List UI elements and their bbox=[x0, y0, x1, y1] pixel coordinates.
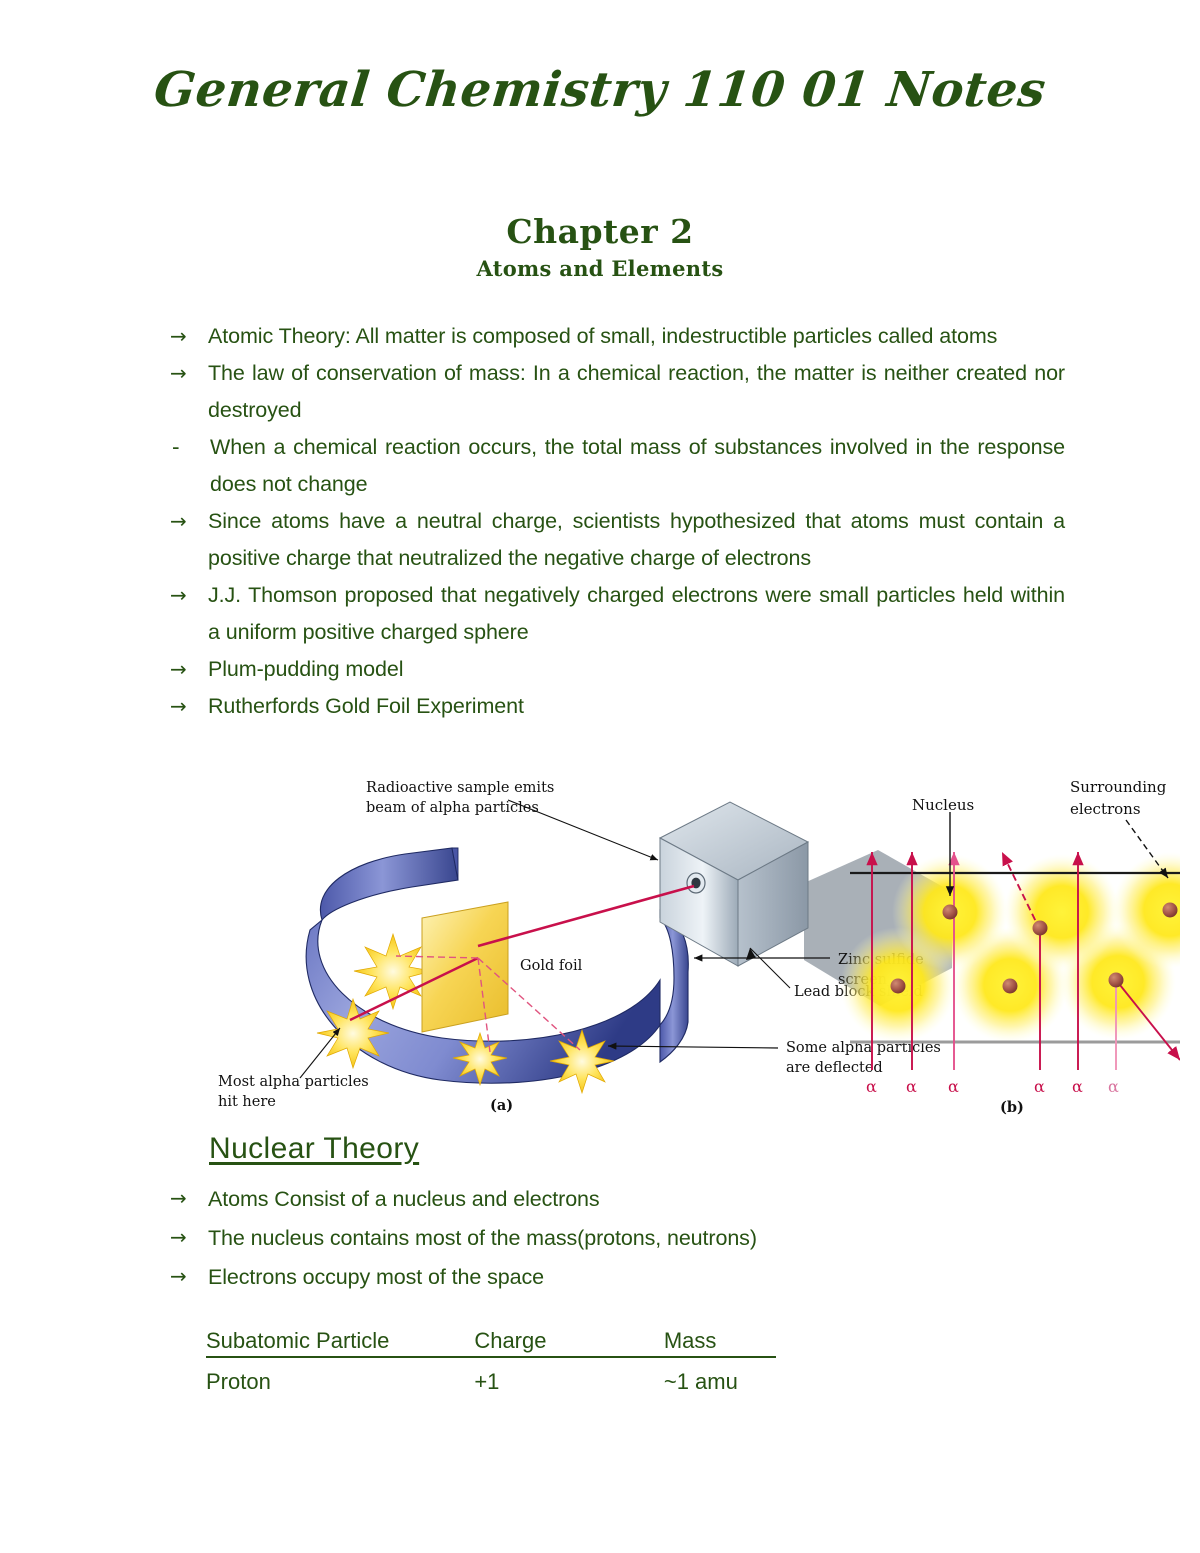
label-most-line2: hit here bbox=[218, 1094, 276, 1110]
column-header-particle: Subatomic Particle bbox=[206, 1328, 474, 1357]
list-item-text: Atoms Consist of a nucleus and electrons bbox=[208, 1180, 1065, 1219]
panel-a-diagram: Radioactive sample emits beam of alpha p… bbox=[218, 780, 952, 1114]
panel-b-diagram: α α α α α α Nucleus Surrounding electron… bbox=[840, 778, 1180, 1115]
arrow-bullet-icon: → bbox=[170, 503, 208, 540]
list-item: → Atomic Theory: All matter is composed … bbox=[170, 318, 1065, 355]
arrow-bullet-icon: → bbox=[170, 1219, 208, 1256]
table-row: Proton +1 ~1 amu bbox=[206, 1357, 776, 1395]
list-item-text: The nucleus contains most of the mass(pr… bbox=[208, 1219, 1065, 1258]
table-header-row: Subatomic Particle Charge Mass bbox=[206, 1328, 776, 1357]
nucleus bbox=[891, 979, 906, 994]
list-item: → The nucleus contains most of the mass(… bbox=[170, 1219, 1065, 1258]
arrow-bullet-icon: → bbox=[170, 318, 208, 355]
panel-b-caption: (b) bbox=[1000, 1099, 1024, 1115]
alpha-symbol: α bbox=[866, 1077, 877, 1096]
label-electrons-line1: Surrounding bbox=[1070, 778, 1167, 796]
alpha-symbol: α bbox=[948, 1077, 959, 1096]
list-item-text: Atomic Theory: All matter is composed of… bbox=[208, 318, 1065, 355]
arrow-bullet-icon: → bbox=[170, 355, 208, 392]
list-item: → Atoms Consist of a nucleus and electro… bbox=[170, 1180, 1065, 1219]
arrow-bullet-icon: → bbox=[170, 1180, 208, 1217]
list-item: → Rutherfords Gold Foil Experiment bbox=[170, 688, 1065, 725]
electron-cloud bbox=[1004, 854, 1120, 970]
list-item-text: Electrons occupy most of the space bbox=[208, 1258, 1065, 1297]
arrow-bullet-icon: → bbox=[170, 688, 208, 725]
cell-charge: +1 bbox=[474, 1357, 664, 1395]
arrow-bullet-icon: → bbox=[170, 577, 208, 614]
page-title: General Chemistry 110 01 Notes bbox=[0, 62, 1200, 118]
alpha-symbol: α bbox=[906, 1077, 917, 1096]
nuclear-theory-bullet-list: → Atoms Consist of a nucleus and electro… bbox=[170, 1180, 1065, 1297]
list-item: → Electrons occupy most of the space bbox=[170, 1258, 1065, 1297]
alpha-symbol: α bbox=[1072, 1077, 1083, 1096]
label-most-line1: Most alpha particles bbox=[218, 1074, 369, 1090]
list-item: - When a chemical reaction occurs, the t… bbox=[170, 429, 1065, 503]
alpha-symbol: α bbox=[1108, 1077, 1119, 1096]
gold-foil bbox=[422, 902, 508, 1032]
column-header-mass: Mass bbox=[664, 1328, 776, 1357]
nucleus bbox=[1163, 903, 1178, 918]
notes-bullet-list: → Atomic Theory: All matter is composed … bbox=[170, 318, 1065, 725]
nucleus bbox=[1109, 973, 1124, 988]
subatomic-particle-table: Subatomic Particle Charge Mass Proton +1… bbox=[206, 1328, 776, 1395]
chapter-subheading: Atoms and Elements bbox=[0, 256, 1200, 281]
nucleus bbox=[943, 905, 958, 920]
starburst bbox=[354, 934, 432, 1009]
alpha-symbol: α bbox=[1034, 1077, 1045, 1096]
list-item-text: Rutherfords Gold Foil Experiment bbox=[208, 688, 1065, 725]
list-item-text: When a chemical reaction occurs, the tot… bbox=[210, 429, 1065, 503]
nuclear-theory-heading: Nuclear Theory bbox=[209, 1132, 419, 1166]
panel-a-caption: (a) bbox=[490, 1097, 513, 1114]
list-item: → Plum-pudding model bbox=[170, 651, 1065, 688]
arrow-bullet-icon: → bbox=[170, 1258, 208, 1295]
list-item-text: Since atoms have a neutral charge, scien… bbox=[208, 503, 1065, 577]
leader-line-lead bbox=[750, 948, 790, 988]
label-source-line1: Radioactive sample emits bbox=[366, 780, 554, 796]
chapter-heading: Chapter 2 bbox=[0, 212, 1200, 251]
label-deflected-line2: are deflected bbox=[786, 1060, 883, 1076]
notes-page: General Chemistry 110 01 Notes Chapter 2… bbox=[0, 0, 1200, 1553]
nucleus bbox=[1033, 921, 1048, 936]
label-gold-foil: Gold foil bbox=[520, 958, 583, 974]
label-source-line2: beam of alpha particles bbox=[366, 800, 539, 816]
nucleus bbox=[1003, 979, 1018, 994]
list-item-text: The law of conservation of mass: In a ch… bbox=[208, 355, 1065, 429]
zinc-sulfide-screen-upper-left bbox=[320, 848, 458, 920]
label-electrons-line2: electrons bbox=[1070, 800, 1141, 818]
cell-particle: Proton bbox=[206, 1357, 474, 1395]
column-header-charge: Charge bbox=[474, 1328, 664, 1357]
list-item-text: Plum-pudding model bbox=[208, 651, 1065, 688]
dash-bullet-icon: - bbox=[170, 429, 210, 466]
cell-mass: ~1 amu bbox=[664, 1357, 776, 1395]
list-item: → Since atoms have a neutral charge, sci… bbox=[170, 503, 1065, 577]
list-item: → The law of conservation of mass: In a … bbox=[170, 355, 1065, 429]
list-item: → J.J. Thomson proposed that negatively … bbox=[170, 577, 1065, 651]
label-nucleus: Nucleus bbox=[912, 796, 974, 814]
list-item-text: J.J. Thomson proposed that negatively ch… bbox=[208, 577, 1065, 651]
arrow-bullet-icon: → bbox=[170, 651, 208, 688]
rutherford-gold-foil-figure: Radioactive sample emits beam of alpha p… bbox=[190, 770, 1180, 1115]
